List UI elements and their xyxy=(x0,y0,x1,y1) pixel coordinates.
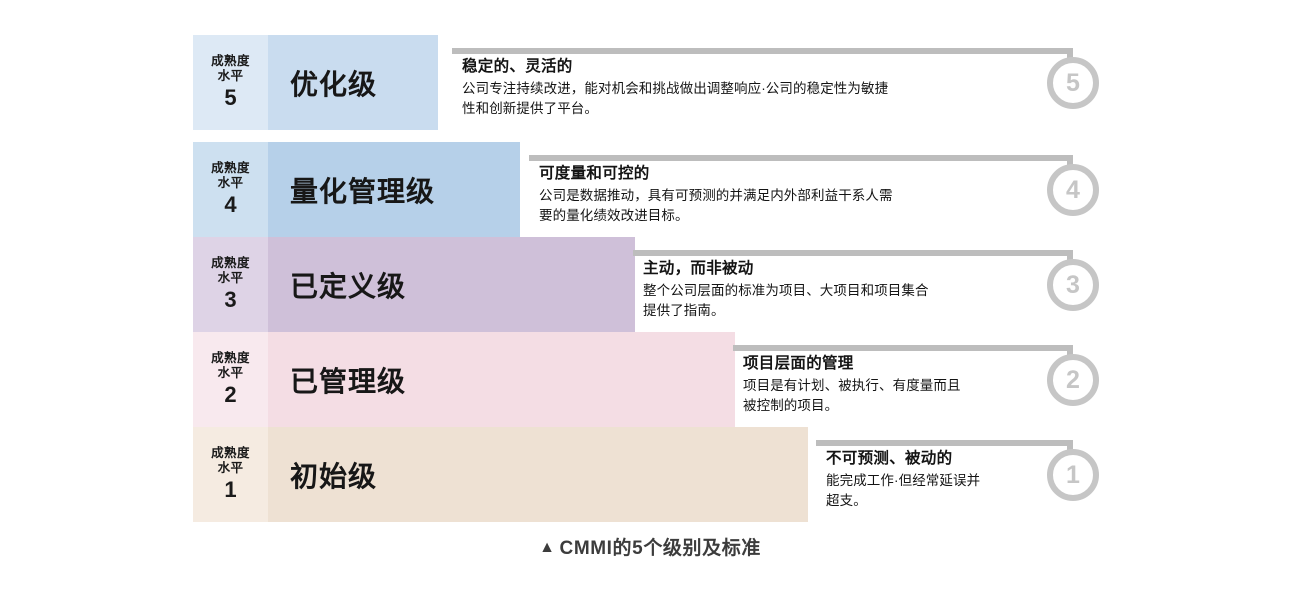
maturity-level-circle-5: 5 xyxy=(1047,57,1099,109)
maturity-level-name-4: 量化管理级 xyxy=(268,142,520,237)
callout-text-block-3: 主动，而非被动整个公司层面的标准为项目、大项目和项目集合提供了指南。 xyxy=(643,259,929,321)
callout-description-line1: 公司专注持续改进，能对机会和挑战做出调整响应·公司的稳定性为敏捷 xyxy=(462,79,888,99)
maturity-level-bar-4: 成熟度水平4量化管理级 xyxy=(193,142,520,237)
callout-title-3: 主动，而非被动 xyxy=(643,259,929,280)
caption-text: CMMI的5个级别及标准 xyxy=(560,538,761,559)
callout-connector-line xyxy=(633,250,1073,256)
callout-description-line1: 公司是数据推动，具有可预测的并满足内外部利益干系人需 xyxy=(539,186,893,206)
callout-description-line2: 提供了指南。 xyxy=(643,301,929,321)
maturity-level-name-1: 初始级 xyxy=(268,427,808,522)
maturity-level-row-4: 成熟度水平4量化管理级可度量和可控的公司是数据推动，具有可预测的并满足内外部利益… xyxy=(193,142,1300,237)
maturity-label-line2: 水平 xyxy=(218,176,244,191)
maturity-level-badge-3: 成熟度水平3 xyxy=(193,237,268,332)
maturity-callout-4: 可度量和可控的公司是数据推动，具有可预测的并满足内外部利益干系人需要的量化绩效改… xyxy=(529,142,1093,237)
maturity-level-circle-2: 2 xyxy=(1047,354,1099,406)
callout-text-block-5: 稳定的、灵活的公司专注持续改进，能对机会和挑战做出调整响应·公司的稳定性为敏捷性… xyxy=(462,57,888,119)
maturity-level-name-5: 优化级 xyxy=(268,35,438,130)
maturity-level-circle-number: 2 xyxy=(1066,366,1080,395)
maturity-label-line2: 水平 xyxy=(218,271,244,286)
maturity-level-badge-1: 成熟度水平1 xyxy=(193,427,268,522)
callout-description-line2: 性和创新提供了平台。 xyxy=(462,99,888,119)
caption-triangle-icon: ▲ xyxy=(539,539,555,556)
maturity-callout-1: 不可预测、被动的能完成工作·但经常延误并超支。1 xyxy=(816,427,1093,522)
maturity-level-badge-2: 成熟度水平2 xyxy=(193,332,268,427)
maturity-level-name-2: 已管理级 xyxy=(268,332,735,427)
callout-connector-line xyxy=(816,440,1073,446)
maturity-level-number-4: 4 xyxy=(224,192,236,218)
maturity-label-line1: 成熟度 xyxy=(211,256,250,271)
callout-text-block-2: 项目层面的管理项目是有计划、被执行、有度量而且被控制的项目。 xyxy=(743,354,961,416)
callout-description-line1: 项目是有计划、被执行、有度量而且 xyxy=(743,376,961,396)
figure-caption: ▲CMMI的5个级别及标准 xyxy=(0,533,1300,560)
callout-title-2: 项目层面的管理 xyxy=(743,354,961,375)
callout-text-block-4: 可度量和可控的公司是数据推动，具有可预测的并满足内外部利益干系人需要的量化绩效改… xyxy=(539,164,893,226)
maturity-level-bar-5: 成熟度水平5优化级 xyxy=(193,35,438,130)
maturity-level-number-1: 1 xyxy=(224,477,236,503)
callout-description-line2: 要的量化绩效改进目标。 xyxy=(539,206,893,226)
callout-title-1: 不可预测、被动的 xyxy=(826,449,980,470)
maturity-callout-2: 项目层面的管理项目是有计划、被执行、有度量而且被控制的项目。2 xyxy=(733,332,1093,427)
callout-description-line2: 超支。 xyxy=(826,491,980,511)
callout-title-4: 可度量和可控的 xyxy=(539,164,893,185)
maturity-level-circle-number: 1 xyxy=(1066,461,1080,490)
maturity-level-name-3: 已定义级 xyxy=(268,237,635,332)
maturity-level-badge-5: 成熟度水平5 xyxy=(193,35,268,130)
maturity-level-number-3: 3 xyxy=(224,287,236,313)
maturity-label-line1: 成熟度 xyxy=(211,54,250,69)
maturity-label-line2: 水平 xyxy=(218,69,244,84)
maturity-level-row-5: 成熟度水平5优化级稳定的、灵活的公司专注持续改进，能对机会和挑战做出调整响应·公… xyxy=(193,35,1300,130)
callout-title-5: 稳定的、灵活的 xyxy=(462,57,888,78)
cmmi-maturity-diagram: 成熟度水平5优化级稳定的、灵活的公司专注持续改进，能对机会和挑战做出调整响应·公… xyxy=(0,0,1300,592)
maturity-level-row-1: 成熟度水平1初始级不可预测、被动的能完成工作·但经常延误并超支。1 xyxy=(193,427,1300,522)
maturity-level-row-3: 成熟度水平3已定义级主动，而非被动整个公司层面的标准为项目、大项目和项目集合提供… xyxy=(193,237,1300,332)
maturity-level-bar-1: 成熟度水平1初始级 xyxy=(193,427,808,522)
maturity-callout-3: 主动，而非被动整个公司层面的标准为项目、大项目和项目集合提供了指南。3 xyxy=(633,237,1093,332)
maturity-label-line2: 水平 xyxy=(218,366,244,381)
maturity-label-line2: 水平 xyxy=(218,461,244,476)
maturity-callout-5: 稳定的、灵活的公司专注持续改进，能对机会和挑战做出调整响应·公司的稳定性为敏捷性… xyxy=(452,35,1093,130)
callout-connector-line xyxy=(733,345,1073,351)
maturity-label-line1: 成熟度 xyxy=(211,351,250,366)
callout-description-line2: 被控制的项目。 xyxy=(743,396,961,416)
maturity-label-line1: 成熟度 xyxy=(211,161,250,176)
callout-description-line1: 能完成工作·但经常延误并 xyxy=(826,471,980,491)
callout-text-block-1: 不可预测、被动的能完成工作·但经常延误并超支。 xyxy=(826,449,980,511)
maturity-level-circle-number: 5 xyxy=(1066,69,1080,98)
maturity-level-badge-4: 成熟度水平4 xyxy=(193,142,268,237)
maturity-level-circle-1: 1 xyxy=(1047,449,1099,501)
maturity-level-circle-number: 3 xyxy=(1066,271,1080,300)
maturity-level-row-2: 成熟度水平2已管理级项目层面的管理项目是有计划、被执行、有度量而且被控制的项目。… xyxy=(193,332,1300,427)
maturity-level-circle-number: 4 xyxy=(1066,176,1080,205)
callout-description-line1: 整个公司层面的标准为项目、大项目和项目集合 xyxy=(643,281,929,301)
callout-connector-line xyxy=(452,48,1073,54)
maturity-level-bar-3: 成熟度水平3已定义级 xyxy=(193,237,635,332)
maturity-label-line1: 成熟度 xyxy=(211,446,250,461)
maturity-level-number-2: 2 xyxy=(224,382,236,408)
callout-connector-line xyxy=(529,155,1073,161)
maturity-level-number-5: 5 xyxy=(224,85,236,111)
maturity-level-bar-2: 成熟度水平2已管理级 xyxy=(193,332,735,427)
maturity-level-circle-4: 4 xyxy=(1047,164,1099,216)
maturity-level-circle-3: 3 xyxy=(1047,259,1099,311)
